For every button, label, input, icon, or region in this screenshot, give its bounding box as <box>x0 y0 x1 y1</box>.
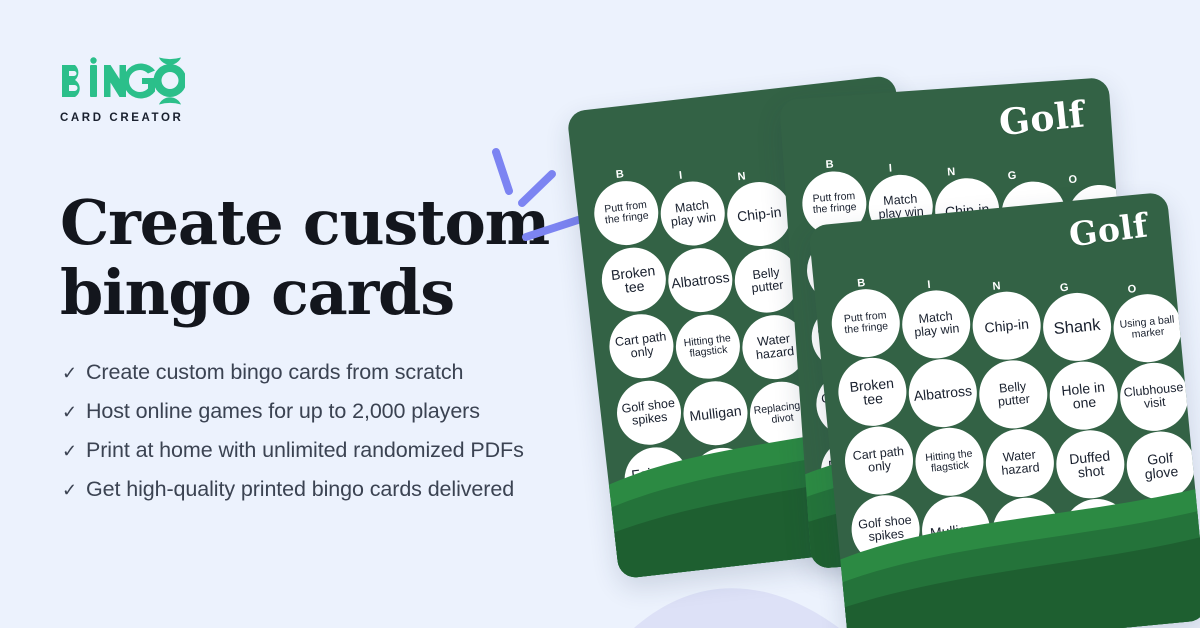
bingo-cell[interactable]: Broken tee <box>835 355 909 429</box>
bingo-cell[interactable]: Broken tee <box>598 243 669 316</box>
bingo-cell-label: Belly putter <box>976 357 1050 431</box>
bingo-cell-label: Broken tee <box>598 244 669 315</box>
list-item: ✓ Print at home with unlimited randomize… <box>62 440 524 462</box>
bingo-cell-label: Chip-in <box>724 179 795 250</box>
bingo-cell[interactable]: Clubhouse visit <box>1117 360 1191 434</box>
bingo-cell[interactable]: Putt from the fringe <box>591 177 662 250</box>
bingo-cell-label: Cart path only <box>842 423 916 497</box>
bingo-cell[interactable]: Cart path only <box>842 423 916 497</box>
bingo-cell-label: Albatross <box>665 245 736 316</box>
bingo-cell-label: Using a ball marker <box>1110 291 1184 365</box>
bingo-cell-label: Broken tee <box>835 355 909 429</box>
bingo-card-stack: GolfBINGOPutt from the fringeMatch play … <box>560 40 1200 628</box>
logo[interactable]: CARD CREATOR <box>60 57 290 124</box>
bingo-cell-label: Match play win <box>657 178 728 249</box>
bingo-cell[interactable]: Using a ball marker <box>1110 291 1184 365</box>
bingo-cell[interactable]: Match play win <box>899 287 973 361</box>
bingo-cell-label: Hitting the flagstick <box>912 425 986 499</box>
bingo-cell-label: Putt from the fringe <box>829 286 903 360</box>
bingo-cell[interactable]: Belly putter <box>976 357 1050 431</box>
bingo-cell[interactable]: Cart path only <box>606 310 677 383</box>
bingo-cell-label: Albatross <box>906 356 980 430</box>
bingo-cell-label: Hitting the flagstick <box>672 311 743 382</box>
bingo-cell-label: Chip-in <box>970 289 1044 363</box>
check-icon: ✓ <box>62 403 86 421</box>
bingo-cell[interactable]: Hitting the flagstick <box>672 310 743 383</box>
check-icon: ✓ <box>62 481 86 499</box>
feature-label: Create custom bingo cards from scratch <box>86 362 463 384</box>
feature-label: Host online games for up to 2,000 player… <box>86 401 480 423</box>
bingo-cell[interactable]: Shank <box>1040 290 1114 364</box>
bingo-cell-label: Cart path only <box>606 311 677 382</box>
hero-banner: CARD CREATOR Create custom bingo cards ✓… <box>0 0 1200 628</box>
page-title: Create custom bingo cards <box>60 188 580 328</box>
bingo-cell-label: Hole in one <box>1047 359 1121 433</box>
bingo-cell-label: Shank <box>1040 290 1114 364</box>
bingo-cell[interactable]: Albatross <box>906 356 980 430</box>
bingo-cell-label: Clubhouse visit <box>1117 360 1191 434</box>
list-item: ✓ Create custom bingo cards from scratch <box>62 362 524 384</box>
logo-tagline: CARD CREATOR <box>60 112 290 124</box>
check-icon: ✓ <box>62 364 86 382</box>
bingo-cell[interactable]: Albatross <box>665 244 736 317</box>
bingo-cell-label: Match play win <box>899 287 973 361</box>
bingo-cell[interactable]: Match play win <box>657 177 728 250</box>
feature-label: Print at home with unlimited randomized … <box>86 440 524 462</box>
bingo-cell[interactable]: Hitting the flagstick <box>912 425 986 499</box>
front-card[interactable]: GolfBINGOPutt from the fringeMatch play … <box>808 192 1200 628</box>
bingo-cell[interactable]: Chip-in <box>724 178 795 251</box>
headline-line-2: bingo cards <box>60 258 580 328</box>
bingo-wordmark-icon <box>60 57 185 105</box>
list-item: ✓ Host online games for up to 2,000 play… <box>62 401 524 423</box>
bingo-cell[interactable]: Hole in one <box>1047 359 1121 433</box>
bingo-cell[interactable]: Putt from the fringe <box>829 286 903 360</box>
check-icon: ✓ <box>62 442 86 460</box>
feature-label: Get high-quality printed bingo cards del… <box>86 479 514 501</box>
feature-list: ✓ Create custom bingo cards from scratch… <box>62 362 524 518</box>
bingo-cell[interactable]: Chip-in <box>970 289 1044 363</box>
bingo-cell-label: Putt from the fringe <box>591 178 662 249</box>
list-item: ✓ Get high-quality printed bingo cards d… <box>62 479 524 501</box>
headline-line-1: Create custom <box>60 186 549 259</box>
